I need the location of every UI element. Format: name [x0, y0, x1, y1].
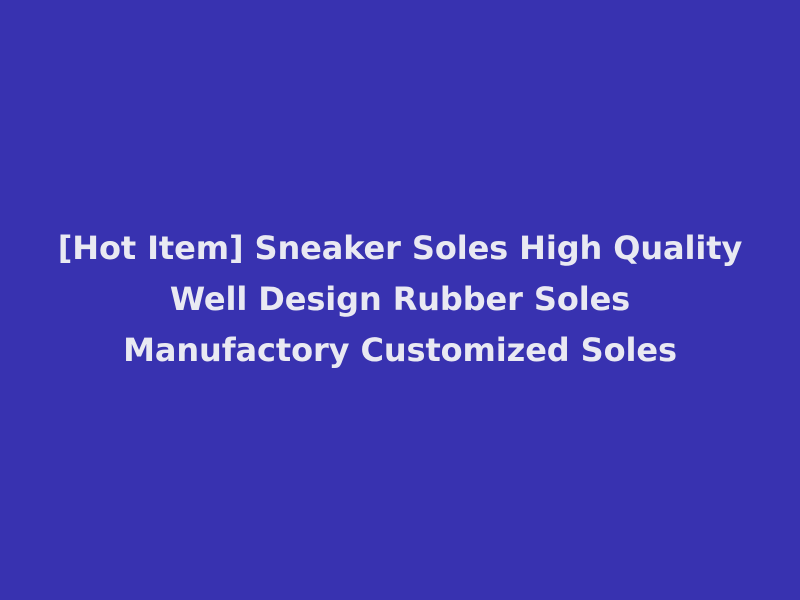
title-line-2: Well Design Rubber Soles [20, 274, 780, 325]
title-line-3: Manufactory Customized Soles [20, 325, 780, 376]
product-title-card: [Hot Item] Sneaker Soles High Quality We… [0, 0, 800, 600]
page-title: [Hot Item] Sneaker Soles High Quality We… [20, 223, 780, 376]
title-line-1: [Hot Item] Sneaker Soles High Quality [20, 223, 780, 274]
